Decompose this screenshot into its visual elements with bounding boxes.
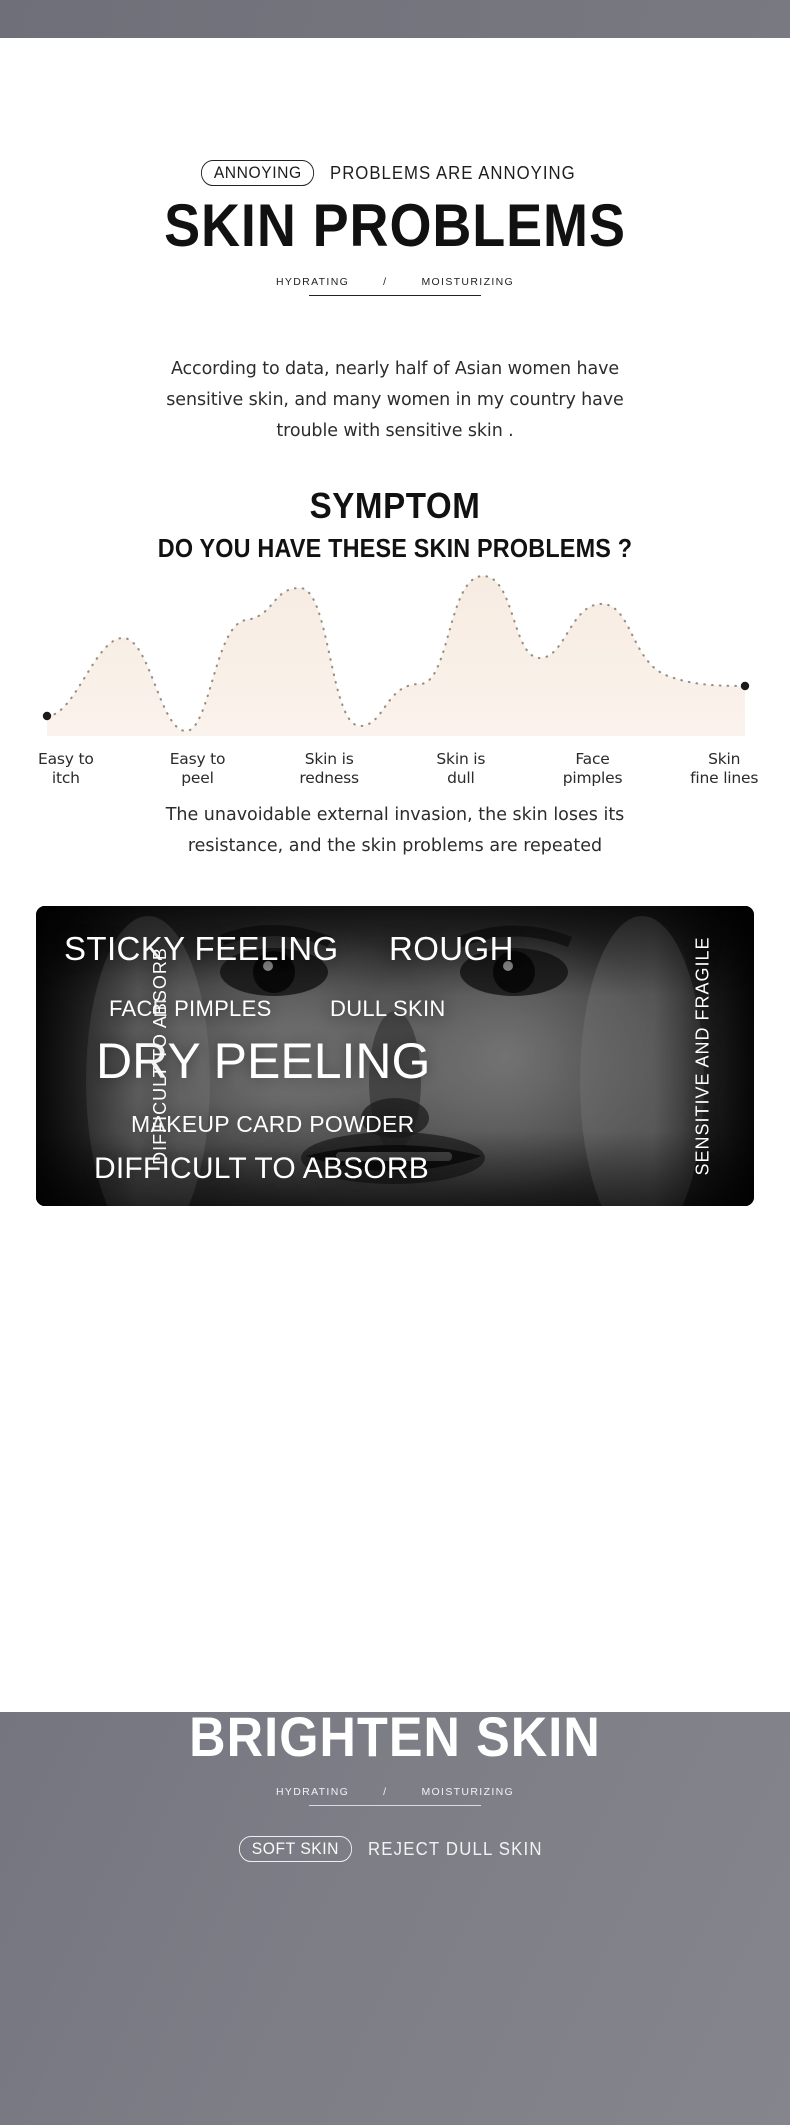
cloud-word-dry-peeling: DRY PEELING [96, 1036, 430, 1086]
cloud-word-rough: ROUGH [389, 932, 514, 965]
symptom-title: SYMPTOM [32, 488, 759, 524]
footer-rule-tag-divider [309, 1805, 481, 1806]
cloud-word-dull-skin: DULL SKIN [330, 998, 446, 1020]
chart-label-line2: fine lines [690, 769, 758, 787]
cloud-word-side-right: SENSITIVE AND FRAGILE [693, 936, 711, 1175]
word-cloud-text-layer: STICKY FEELING ROUGH FACE PIMPLES DULL S… [36, 906, 754, 1206]
chart-label-easy-to-itch: Easy to itch [0, 750, 132, 788]
hero-eyebrow: ANNOYING PROBLEMS ARE ANNOYING [0, 160, 790, 186]
footer-rule-tag-left: HYDRATING [276, 1786, 349, 1798]
footer-section: SOFT SKIN REJECT DULL SKIN [0, 1712, 790, 2125]
chart-label-skin-is-dull: Skin is dull [395, 750, 527, 788]
cloud-word-face-pimples: FACE PIMPLES [109, 998, 272, 1020]
chart-area-fill [47, 576, 745, 736]
chart-label-line1: Easy to [170, 750, 226, 768]
chart-label-face-pimples: Face pimples [527, 750, 659, 788]
chart-label-line2: peel [181, 769, 213, 787]
chart-label-line1: Skin is [436, 750, 485, 768]
cloud-word-difficult-to-absorb: DIFFICULT TO ABSORB [94, 1154, 429, 1184]
chart-label-easy-to-peel: Easy to peel [132, 750, 264, 788]
footer-title: BRIGHTEN SKIN [40, 1709, 751, 1765]
footer-rule-tag: HYDRATING / MOISTURIZING [0, 1786, 790, 1806]
chart-label-line1: Face [575, 750, 609, 768]
hero-eyebrow-text: PROBLEMS ARE ANNOYING [330, 163, 576, 184]
footer-rule-tag-separator: / [383, 1786, 387, 1798]
hero-rule-tag-left: HYDRATING [276, 276, 349, 288]
footer-eyebrow: SOFT SKIN REJECT DULL SKIN [0, 1836, 790, 1862]
chart-label-line1: Skin [708, 750, 740, 768]
chart-label-line1: Skin is [305, 750, 354, 768]
cloud-word-sticky-feeling: STICKY FEELING [64, 932, 339, 965]
chart-label-line2: pimples [563, 769, 623, 787]
hero-rule-tag-right: MOISTURIZING [421, 276, 514, 288]
chart-label-line2: redness [299, 769, 359, 787]
footer-eyebrow-text: REJECT DULL SKIN [368, 1839, 543, 1860]
chart-label-line1: Easy to [38, 750, 94, 768]
cloud-word-makeup-card-powder: MAKEUP CARD POWDER [131, 1113, 415, 1136]
chart-label-line2: dull [447, 769, 474, 787]
page-title: SKIN PROBLEMS [40, 196, 751, 256]
chart-start-marker [43, 712, 51, 720]
word-cloud-card: STICKY FEELING ROUGH FACE PIMPLES DULL S… [36, 906, 754, 1206]
chart-end-marker [741, 682, 749, 690]
symptom-area-chart [0, 566, 790, 736]
intro-paragraph: According to data, nearly half of Asian … [135, 354, 655, 447]
hero-rule-tag-separator: / [383, 276, 387, 288]
footer-eyebrow-pill: SOFT SKIN [239, 1836, 352, 1862]
chart-label-line2: itch [52, 769, 80, 787]
hero-rule-tag: HYDRATING / MOISTURIZING [0, 276, 790, 296]
chart-label-skin-is-redness: Skin is redness [263, 750, 395, 788]
hero-rule-tag-divider [309, 295, 481, 296]
footer-rule-tag-right: MOISTURIZING [421, 1786, 514, 1798]
chart-svg [0, 566, 790, 736]
top-accent-bar [0, 0, 790, 38]
symptom-subtitle: DO YOU HAVE THESE SKIN PROBLEMS ? [40, 535, 751, 561]
hero-eyebrow-pill: ANNOYING [201, 160, 315, 186]
chart-label-skin-fine-lines: Skin fine lines [658, 750, 790, 788]
chart-category-labels: Easy to itch Easy to peel Skin is rednes… [0, 750, 790, 788]
cloud-word-side-left: DIFFICULT TO ABSORB [151, 947, 169, 1165]
hero-section: ANNOYING PROBLEMS ARE ANNOYING SKIN PROB… [0, 38, 790, 1712]
symptom-body-copy: The unavoidable external invasion, the s… [140, 800, 650, 862]
